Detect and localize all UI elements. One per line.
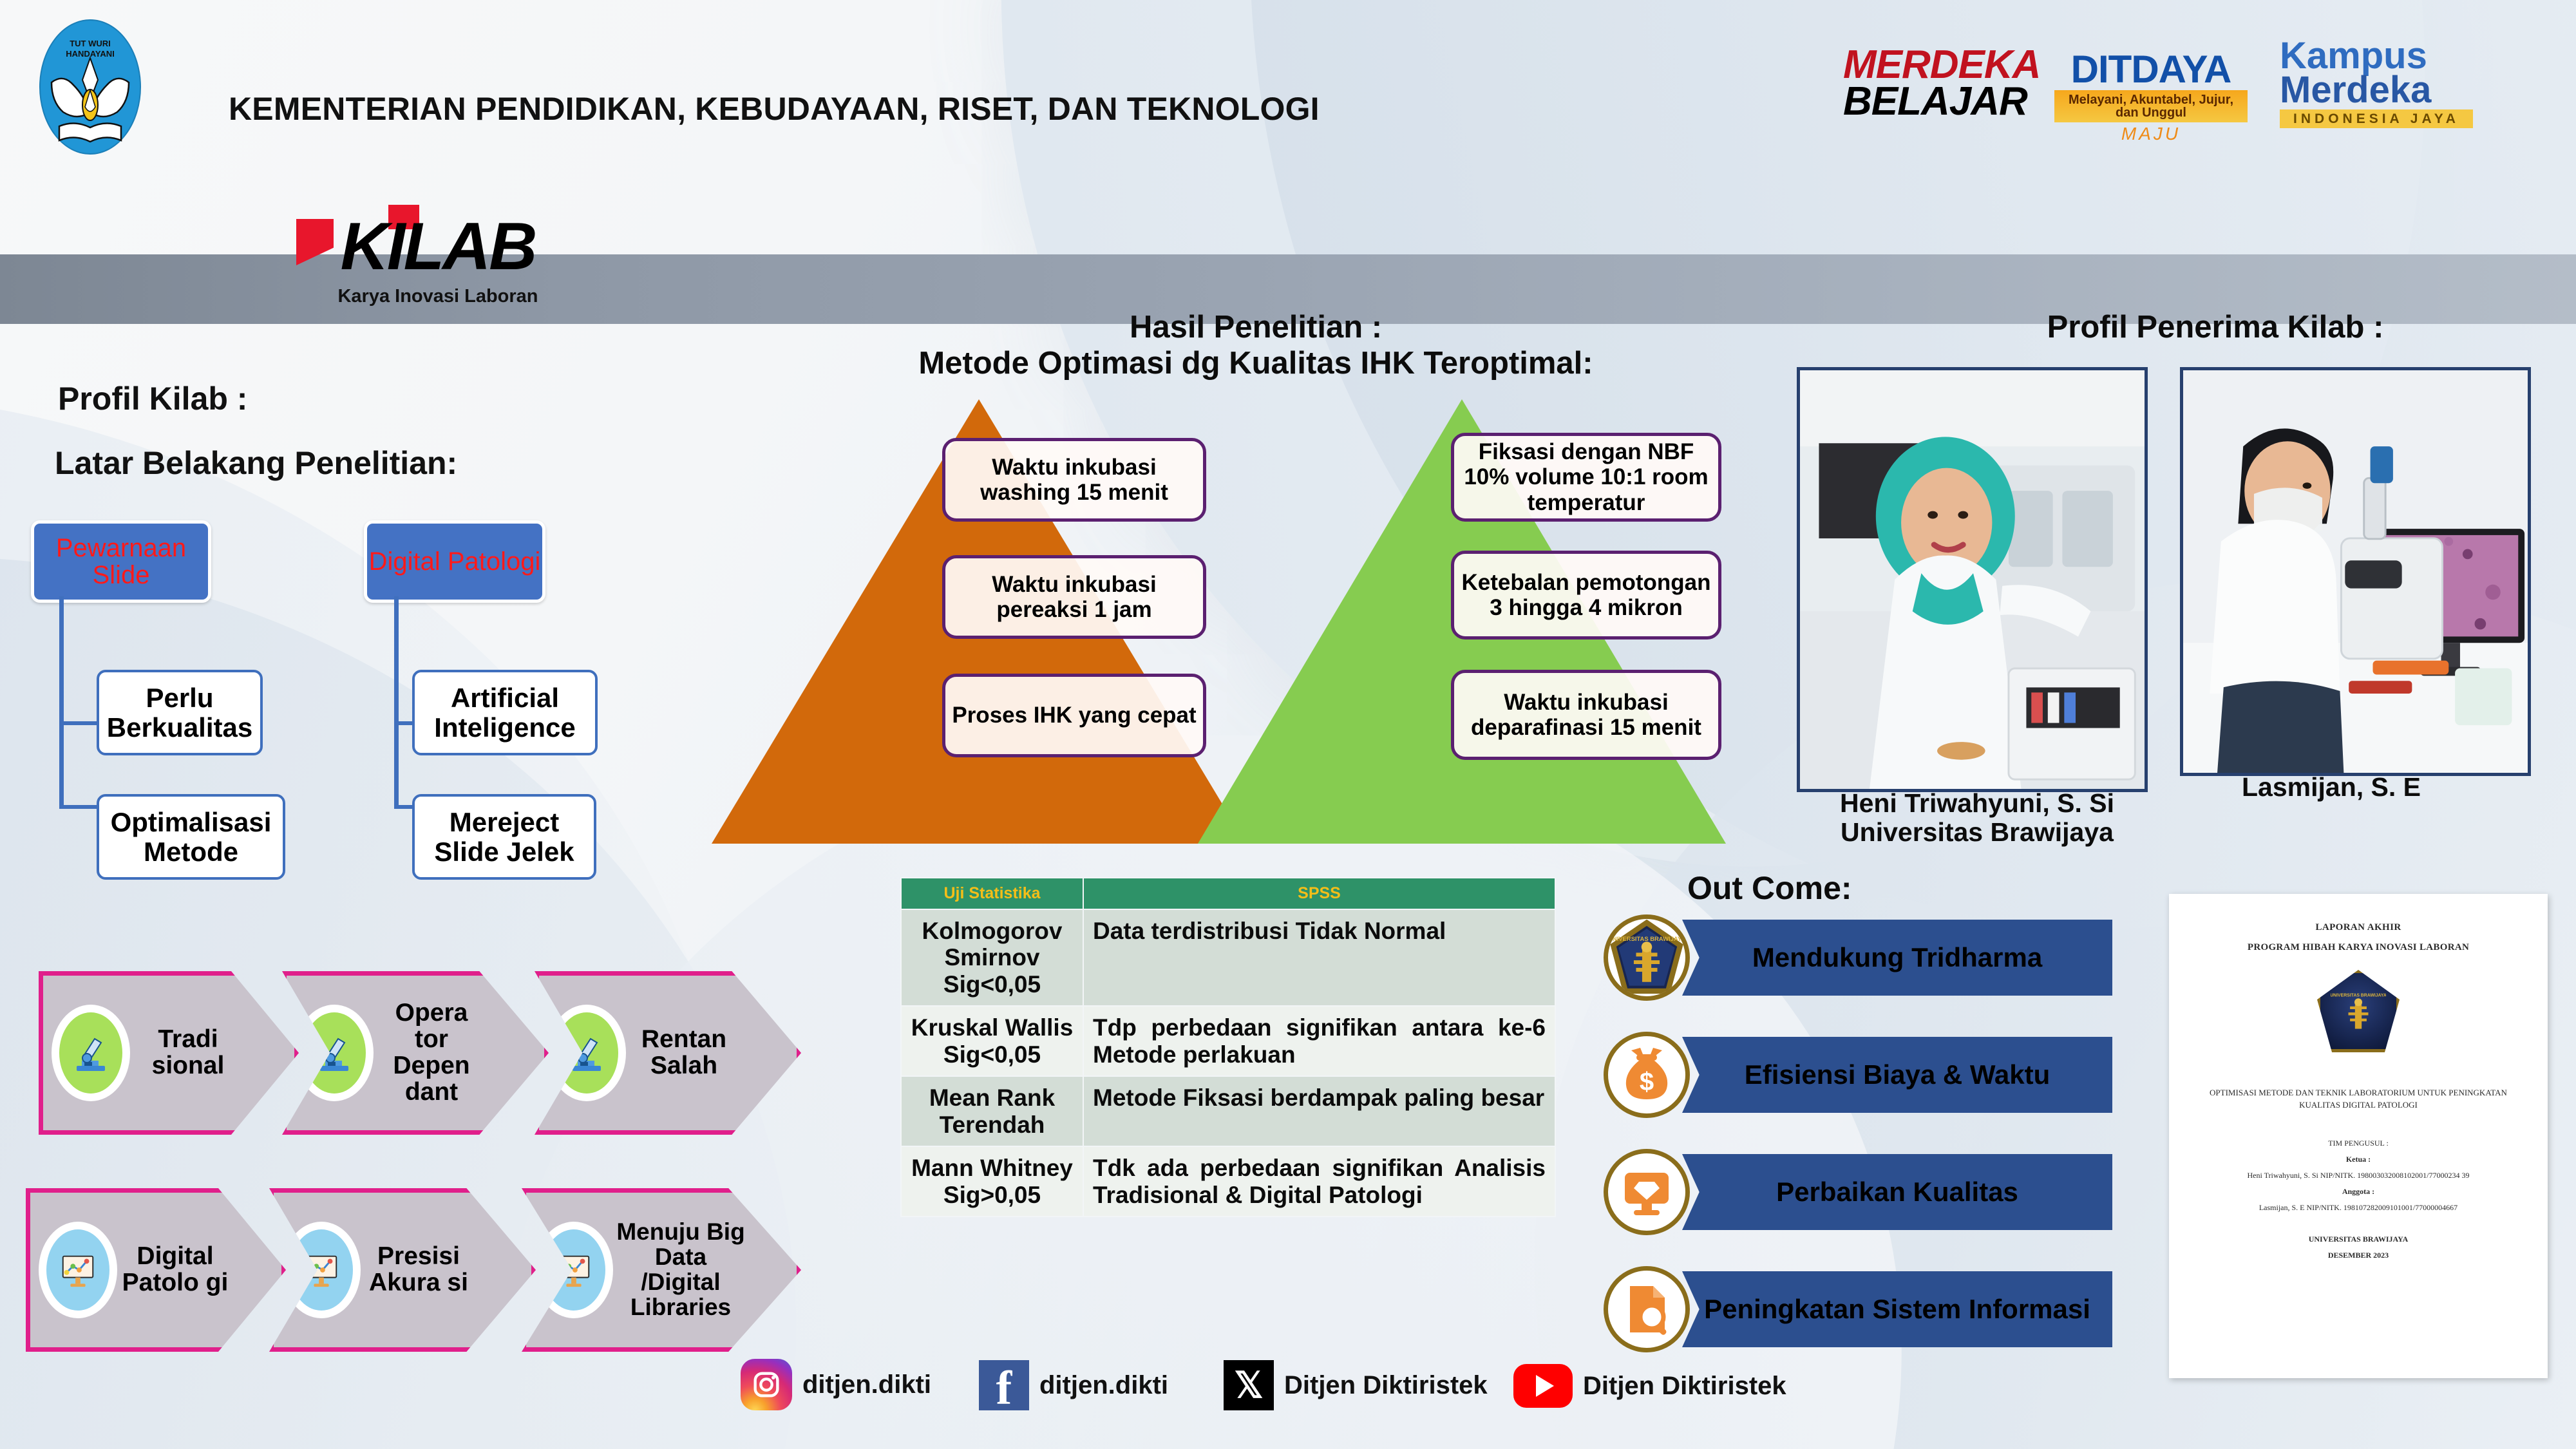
- report-team-label: TIM PENGUSUL :: [2188, 1139, 2528, 1148]
- flow-step-operator-dependant[interactable]: Opera tor Depen dant: [282, 971, 549, 1135]
- youtube-icon: [1513, 1364, 1573, 1408]
- chart-monitor-icon-bg: [542, 1229, 605, 1311]
- caption-person1-name: Heni Triwahyuni, S. Si: [1797, 789, 2157, 818]
- kampus-logo-line2: Merdeka: [2280, 73, 2473, 107]
- money-bag-icon: $: [1604, 1032, 1690, 1118]
- svg-text:$: $: [1640, 1068, 1654, 1096]
- microscope-icon: [55, 1008, 127, 1098]
- tree-connector: [59, 721, 98, 725]
- flow-step-big-data[interactable]: Menuju Big Data /Digital Libraries: [522, 1188, 801, 1352]
- pyramid-right-item-1[interactable]: Fiksasi dengan NBF 10% volume 10:1 room …: [1451, 433, 1721, 522]
- table-header-spss: SPSS: [1083, 878, 1555, 909]
- flow-step-presisi-akurasi[interactable]: Presisi Akura si: [269, 1188, 536, 1352]
- node-mereject-slide-jelek[interactable]: Mereject Slide Jelek: [412, 794, 596, 880]
- outcome-heading: Out Come:: [1687, 869, 1852, 907]
- merdeka-logo-line1: MERDEKA: [1843, 46, 2030, 83]
- table-header-uji-statistika: Uji Statistika: [901, 878, 1083, 909]
- profil-kilab-heading: Profil Kilab :: [58, 380, 247, 417]
- report-line1: LAPORAN AKHIR: [2188, 922, 2528, 933]
- microscope-icon-bg: [303, 1012, 366, 1094]
- chart-monitor-icon: [538, 1225, 610, 1315]
- kampus-logo-line3: INDONESIA JAYA: [2280, 109, 2473, 128]
- node-digital-patologi[interactable]: Digital Patologi: [364, 520, 545, 603]
- chart-monitor-icon-bg: [46, 1229, 109, 1311]
- svg-text:UNIVERSITAS BRAWIJAYA: UNIVERSITAS BRAWIJAYA: [2331, 994, 2386, 998]
- merdeka-belajar-logo: MERDEKA BELAJAR: [1843, 46, 2030, 120]
- node-optimalisasi-metode[interactable]: Optimalisasi Metode: [97, 794, 285, 880]
- social-handle: Ditjen Diktiristek: [1583, 1372, 1786, 1401]
- flow-step-digital-patologi[interactable]: Digital Patolo gi: [26, 1188, 286, 1352]
- flow-step-label: Tradi sional: [133, 1027, 243, 1079]
- ditdaya-logo: DITDAYA Melayani, Akuntabel, Jujur, dan …: [2054, 50, 2248, 143]
- chart-monitor-icon: [285, 1225, 357, 1315]
- ministry-title: KEMENTERIAN PENDIDIKAN, KEBUDAYAAN, RISE…: [229, 90, 1320, 128]
- outcome-item-efisiensi[interactable]: $ Efisiensi Biaya & Waktu: [1604, 1037, 2112, 1113]
- university-crest-icon: UNIVERSITAS BRAWIJAYA: [2317, 970, 2400, 1052]
- hasil-penelitian-heading: Hasil Penelitian : Metode Optimasi dg Ku…: [831, 309, 1681, 382]
- instagram-icon: [741, 1359, 792, 1410]
- report-university: UNIVERSITAS BRAWIJAYA: [2188, 1235, 2528, 1244]
- x-twitter-icon: 𝕏: [1224, 1360, 1274, 1410]
- social-youtube[interactable]: Ditjen Diktiristek: [1513, 1364, 1786, 1408]
- kemdikbud-tut-wuri-handayani-logo: TUT WURI HANDAYANI: [37, 18, 144, 156]
- university-crest-icon: UNIVERSITAS BRAWIJAYA: [1604, 914, 1690, 1001]
- statistics-table: Uji Statistika SPSS Kolmogorov Smirnov S…: [900, 877, 1556, 1217]
- table-cell-test-name: Kruskal Wallis Sig<0,05: [901, 1006, 1083, 1076]
- ditdaya-logo-word: DITDAYA: [2054, 50, 2248, 89]
- flow-step-label: Rentan Salah: [629, 1027, 739, 1079]
- poster-canvas: TUT WURI HANDAYANI KEMENTERIAN PENDIDIKA…: [0, 0, 2576, 1449]
- report-date: DESEMBER 2023: [2188, 1251, 2528, 1260]
- outcome-label: Perbaikan Kualitas: [1682, 1154, 2112, 1230]
- profil-penerima-heading: Profil Penerima Kilab :: [1906, 309, 2524, 345]
- flow-step-rentan-salah[interactable]: Rentan Salah: [535, 971, 801, 1135]
- microscope-icon: [298, 1008, 370, 1098]
- youtube-play-triangle: [1536, 1375, 1554, 1397]
- microscope-icon-bg: [59, 1012, 122, 1094]
- ditdaya-logo-maju: MAJU: [2054, 125, 2248, 143]
- kilab-wordmark: KILAB: [283, 209, 592, 285]
- social-handle: ditjen.dikti: [1039, 1371, 1168, 1400]
- flow-step-label: Presisi Akura si: [364, 1244, 473, 1296]
- pyramid-left-item-3[interactable]: Proses IHK yang cepat: [942, 674, 1206, 757]
- caption-person1-affiliation: Universitas Brawijaya: [1797, 818, 2157, 847]
- merdeka-logo-line2: BELAJAR: [1843, 83, 2030, 120]
- report-ketua: Heni Triwahyuni, S. Si NIP/NITK. 1980030…: [2188, 1171, 2528, 1180]
- flow-step-label: Digital Patolo gi: [120, 1244, 230, 1296]
- pyramid-left-item-1[interactable]: Waktu inkubasi washing 15 menit: [942, 438, 1206, 522]
- node-pewarnaan-slide[interactable]: Pewarnaan Slide: [31, 520, 211, 603]
- social-x-twitter[interactable]: 𝕏 Ditjen Diktiristek: [1224, 1360, 1488, 1410]
- kilab-logo-mark: KILAB: [283, 205, 592, 282]
- microscope-icon: [551, 1008, 623, 1098]
- outcome-label: Mendukung Tridharma: [1682, 920, 2112, 996]
- table-row: Kruskal Wallis Sig<0,05 Tdp perbedaan si…: [901, 1006, 1555, 1076]
- outcome-item-sistem-informasi[interactable]: Peningkatan Sistem Informasi: [1604, 1271, 2112, 1347]
- tree-connector: [59, 805, 98, 809]
- table-cell-result: Tdk ada perbedaan signifikan Analisis Tr…: [1083, 1146, 1555, 1217]
- table-cell-result: Tdp perbedaan signifikan antara ke-6 Met…: [1083, 1006, 1555, 1076]
- svg-text:TUT WURI: TUT WURI: [70, 39, 111, 48]
- caption-person2: Lasmijan, S. E: [2180, 773, 2483, 802]
- kampus-merdeka-logo: Kampus Merdeka INDONESIA JAYA: [2280, 39, 2473, 128]
- facebook-icon: f: [979, 1360, 1029, 1410]
- photo-heni-triwahyuni: [1797, 367, 2148, 792]
- social-handle: Ditjen Diktiristek: [1284, 1371, 1488, 1400]
- social-facebook[interactable]: f ditjen.dikti: [979, 1360, 1168, 1410]
- svg-text:UNIVERSITAS BRAWIJAYA: UNIVERSITAS BRAWIJAYA: [1609, 935, 1685, 942]
- caption-person1: Heni Triwahyuni, S. Si Universitas Brawi…: [1797, 789, 2157, 847]
- outcome-item-kualitas[interactable]: Perbaikan Kualitas: [1604, 1154, 2112, 1230]
- diamond-monitor-icon: [1604, 1149, 1690, 1235]
- pyramid-right-item-2[interactable]: Ketebalan pemotongan 3 hingga 4 mikron: [1451, 551, 1721, 639]
- tree-connector: [394, 596, 399, 809]
- report-title: OPTIMISASI METODE DAN TEKNIK LABORATORIU…: [2188, 1087, 2528, 1112]
- table-cell-result: Data terdistribusi Tidak Normal: [1083, 909, 1555, 1006]
- flow-step-tradisional[interactable]: Tradi sional: [39, 971, 299, 1135]
- hasil-penelitian-line2: Metode Optimasi dg Kualitas IHK Teroptim…: [831, 345, 1681, 381]
- hasil-penelitian-line1: Hasil Penelitian :: [831, 309, 1681, 345]
- chart-monitor-icon-bg: [290, 1229, 353, 1311]
- outcome-label: Peningkatan Sistem Informasi: [1682, 1271, 2112, 1347]
- tree-connector: [59, 596, 64, 809]
- outcome-item-tridharma[interactable]: UNIVERSITAS BRAWIJAYA Mendukung Tridharm…: [1604, 920, 2112, 996]
- report-anggota-label: Anggota :: [2188, 1187, 2528, 1197]
- latar-belakang-heading: Latar Belakang Penelitian:: [55, 444, 457, 482]
- document-search-icon: [1604, 1266, 1690, 1352]
- social-instagram[interactable]: ditjen.dikti: [741, 1359, 931, 1410]
- report-line2: PROGRAM HIBAH KARYA INOVASI LABORAN: [2188, 942, 2528, 953]
- pyramid-right-item-3[interactable]: Waktu inkubasi deparafinasi 15 menit: [1451, 670, 1721, 760]
- kilab-tagline: Karya Inovasi Laboran: [283, 286, 592, 307]
- report-anggota: Lasmijan, S. E NIP/NITK. 198107282009101…: [2188, 1203, 2528, 1213]
- table-cell-result: Metode Fiksasi berdampak paling besar: [1083, 1076, 1555, 1146]
- report-cover-thumbnail[interactable]: LAPORAN AKHIR PROGRAM HIBAH KARYA INOVAS…: [2169, 894, 2548, 1378]
- kampus-logo-line1: Kampus: [2280, 39, 2473, 73]
- report-ketua-label: Ketua :: [2188, 1155, 2528, 1164]
- flow-step-label: Opera tor Depen dant: [377, 1000, 486, 1106]
- table-cell-test-name: Mean Rank Terendah: [901, 1076, 1083, 1146]
- table-row: Mean Rank Terendah Metode Fiksasi berdam…: [901, 1076, 1555, 1146]
- ditdaya-logo-tagline: Melayani, Akuntabel, Jujur, dan Unggul: [2054, 90, 2248, 122]
- table-header-row: Uji Statistika SPSS: [901, 878, 1555, 909]
- pyramid-left-item-2[interactable]: Waktu inkubasi pereaksi 1 jam: [942, 555, 1206, 639]
- chart-monitor-icon: [42, 1225, 114, 1315]
- node-artificial-inteligence[interactable]: Artificial Inteligence: [412, 670, 598, 755]
- node-perlu-berkualitas[interactable]: Perlu Berkualitas: [97, 670, 263, 755]
- kilab-logo: KILAB Karya Inovasi Laboran: [283, 205, 592, 307]
- microscope-icon-bg: [555, 1012, 618, 1094]
- flow-step-label: Menuju Big Data /Digital Libraries: [616, 1220, 745, 1320]
- table-row: Kolmogorov Smirnov Sig<0,05 Data terdist…: [901, 909, 1555, 1006]
- social-handle: ditjen.dikti: [802, 1370, 931, 1399]
- table-cell-test-name: Kolmogorov Smirnov Sig<0,05: [901, 909, 1083, 1006]
- table-cell-test-name: Mann Whitney Sig>0,05: [901, 1146, 1083, 1217]
- outcome-label: Efisiensi Biaya & Waktu: [1682, 1037, 2112, 1113]
- photo-lasmijan: [2180, 367, 2531, 776]
- table-row: Mann Whitney Sig>0,05 Tdk ada perbedaan …: [901, 1146, 1555, 1217]
